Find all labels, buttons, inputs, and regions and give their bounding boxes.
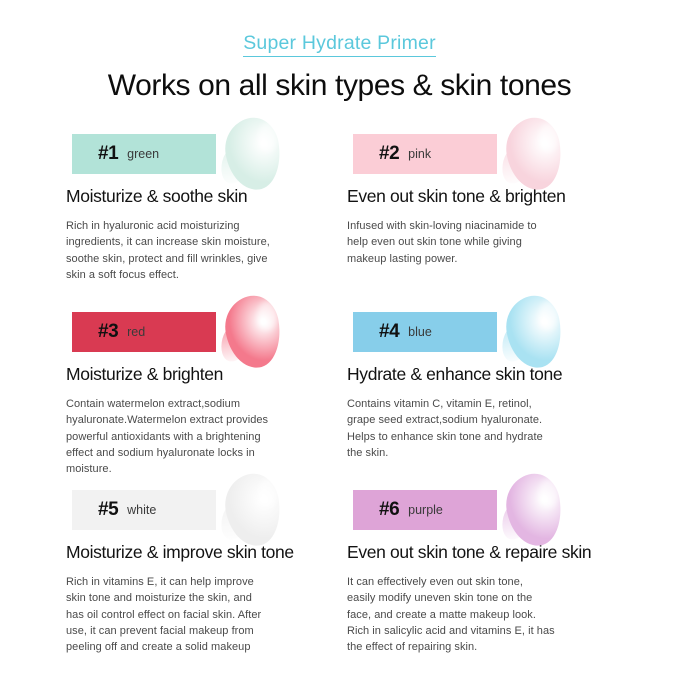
- description-line: has oil control effect on facial skin. A…: [66, 607, 318, 623]
- product-heading: Even out skin tone & repaire skin: [347, 542, 622, 563]
- description-line: Rich in hyaluronic acid moisturizing: [66, 218, 318, 234]
- product-heading: Hydrate & enhance skin tone: [347, 364, 622, 385]
- product-card: #1greenMoisturize & soothe skinRich in h…: [60, 126, 341, 304]
- product-description: Contains vitamin C, vitamin E, retinol,g…: [347, 396, 599, 461]
- shade-color-name: white: [127, 504, 156, 517]
- description-line: skin tone and moisturize the skin, and: [66, 590, 318, 606]
- shade-color-name: pink: [408, 148, 431, 161]
- description-line: skin a soft focus effect.: [66, 267, 318, 283]
- shade-number: #4: [379, 322, 399, 341]
- brand-title: Super Hydrate Primer: [243, 32, 436, 57]
- description-line: grape seed extract,sodium hyaluronate.: [347, 412, 599, 428]
- shade-color-name: blue: [408, 326, 432, 339]
- description-line: powerful antioxidants with a brightening: [66, 429, 318, 445]
- product-card: #4blueHydrate & enhance skin toneContain…: [341, 304, 622, 482]
- cream-smear-icon: [501, 470, 567, 552]
- description-line: face, and create a matte makeup look.: [347, 607, 599, 623]
- description-line: effect and sodium hyaluronate locks in: [66, 445, 318, 461]
- product-card: #2pinkEven out skin tone & brightenInfus…: [341, 126, 622, 304]
- description-line: use, it can prevent facial makeup from: [66, 623, 318, 639]
- description-line: soothe skin, protect and fill wrinkles, …: [66, 251, 318, 267]
- product-description: Rich in vitamins E, it can help improves…: [66, 574, 318, 655]
- color-swatch-bar: #3red: [72, 312, 216, 352]
- product-description: Contain watermelon extract,sodiumhyaluro…: [66, 396, 318, 477]
- shade-number: #2: [379, 144, 399, 163]
- description-line: the effect of repairing skin.: [347, 639, 599, 655]
- product-grid: #1greenMoisturize & soothe skinRich in h…: [60, 126, 619, 668]
- description-line: hyaluronate.Watermelon extract provides: [66, 412, 318, 428]
- description-line: help even out skin tone while giving: [347, 234, 599, 250]
- product-card: #6purpleEven out skin tone & repaire ski…: [341, 482, 622, 668]
- swatch-row: #4blue: [341, 304, 622, 358]
- shade-color-name: red: [127, 326, 145, 339]
- cream-smear-icon: [220, 470, 286, 552]
- product-heading: Even out skin tone & brighten: [347, 186, 622, 207]
- product-heading: Moisturize & soothe skin: [66, 186, 341, 207]
- description-line: Infused with skin-loving niacinamide to: [347, 218, 599, 234]
- page-title: Works on all skin types & skin tones: [60, 69, 619, 104]
- shade-number: #6: [379, 500, 399, 519]
- description-line: Rich in salicylic acid and vitamins E, i…: [347, 623, 599, 639]
- product-description: Rich in hyaluronic acid moisturizingingr…: [66, 218, 318, 283]
- product-card: #5whiteMoisturize & improve skin toneRic…: [60, 482, 341, 668]
- color-swatch-bar: #2pink: [353, 134, 497, 174]
- swatch-row: #3red: [60, 304, 341, 358]
- product-heading: Moisturize & improve skin tone: [66, 542, 341, 563]
- description-line: Contain watermelon extract,sodium: [66, 396, 318, 412]
- description-line: Rich in vitamins E, it can help improve: [66, 574, 318, 590]
- shade-number: #1: [98, 144, 118, 163]
- swatch-row: #1green: [60, 126, 341, 180]
- shade-color-name: green: [127, 148, 159, 161]
- cream-smear-icon: [501, 292, 567, 374]
- shade-number: #3: [98, 322, 118, 341]
- brand-header: Super Hydrate Primer: [60, 0, 619, 57]
- swatch-row: #6purple: [341, 482, 622, 536]
- product-card: #3redMoisturize & brightenContain waterm…: [60, 304, 341, 482]
- description-line: the skin.: [347, 445, 599, 461]
- color-swatch-bar: #5white: [72, 490, 216, 530]
- product-description: It can effectively even out skin tone,ea…: [347, 574, 599, 655]
- swatch-row: #5white: [60, 482, 341, 536]
- product-heading: Moisturize & brighten: [66, 364, 341, 385]
- color-swatch-bar: #4blue: [353, 312, 497, 352]
- cream-smear-icon: [220, 292, 286, 374]
- description-line: ingredients, it can increase skin moistu…: [66, 234, 318, 250]
- description-line: It can effectively even out skin tone,: [347, 574, 599, 590]
- description-line: makeup lasting power.: [347, 251, 599, 267]
- description-line: easily modify uneven skin tone on the: [347, 590, 599, 606]
- description-line: Contains vitamin C, vitamin E, retinol,: [347, 396, 599, 412]
- shade-color-name: purple: [408, 504, 443, 517]
- product-infographic: Super Hydrate Primer Works on all skin t…: [0, 0, 679, 679]
- description-line: moisture.: [66, 461, 318, 477]
- color-swatch-bar: #1green: [72, 134, 216, 174]
- shade-number: #5: [98, 500, 118, 519]
- description-line: peeling off and create a solid makeup: [66, 639, 318, 655]
- product-description: Infused with skin-loving niacinamide toh…: [347, 218, 599, 267]
- swatch-row: #2pink: [341, 126, 622, 180]
- cream-smear-icon: [220, 114, 286, 196]
- color-swatch-bar: #6purple: [353, 490, 497, 530]
- description-line: Helps to enhance skin tone and hydrate: [347, 429, 599, 445]
- cream-smear-icon: [501, 114, 567, 196]
